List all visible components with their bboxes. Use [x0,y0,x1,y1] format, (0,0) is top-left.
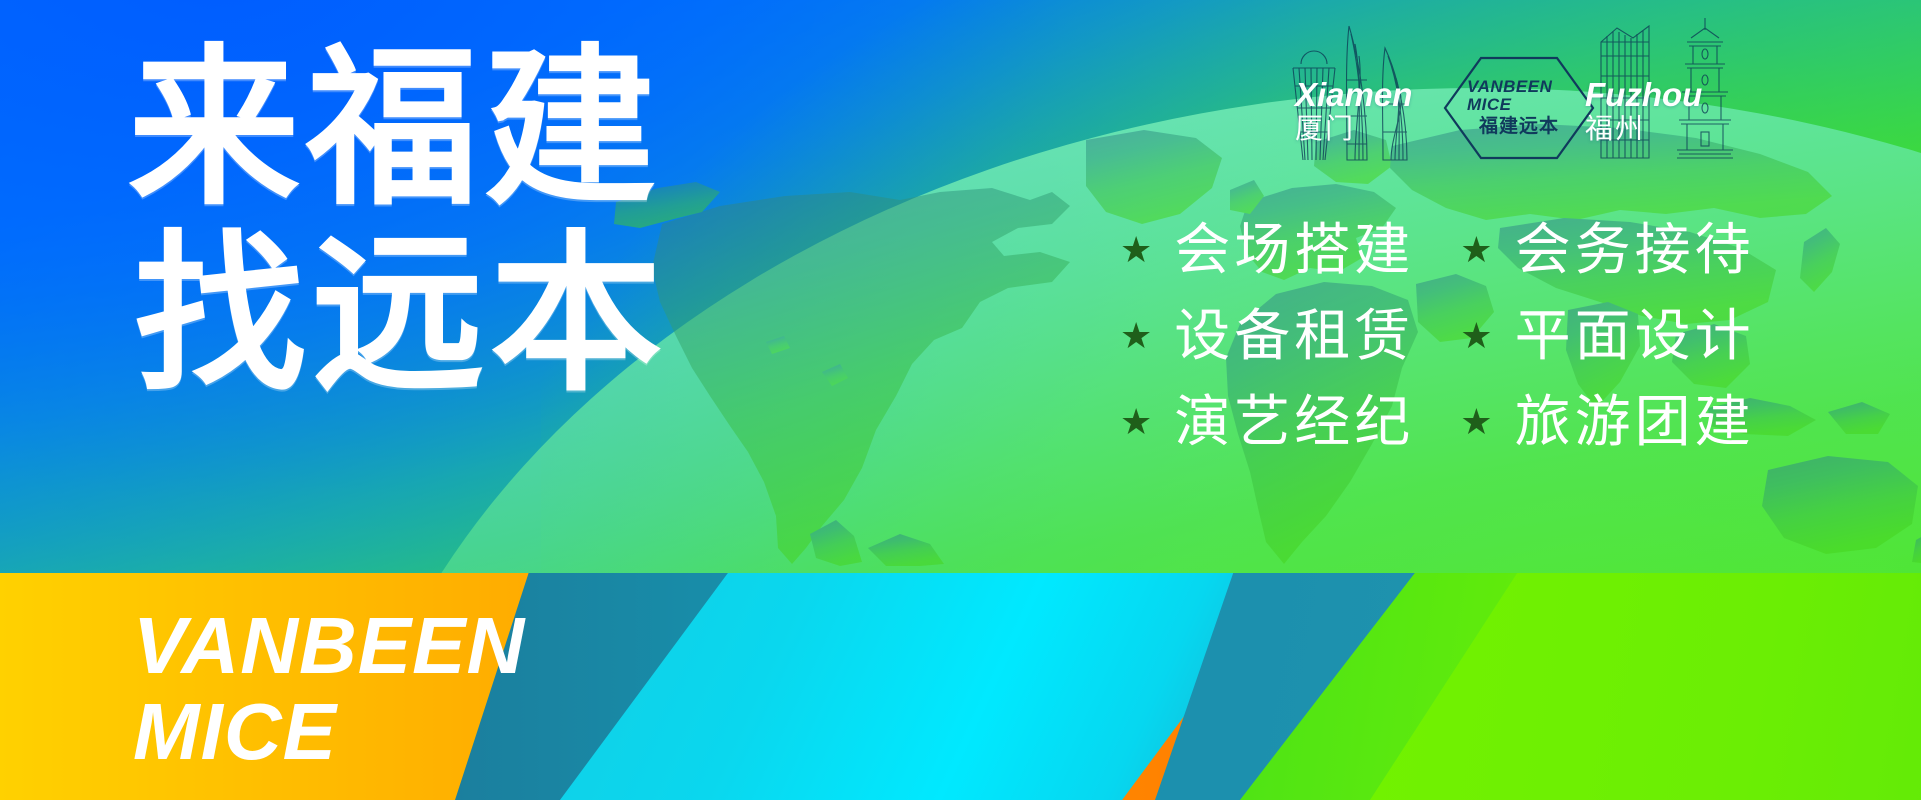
city-xiamen: Xiamen 厦门 [1295,78,1412,143]
service-item[interactable]: ★ 旅游团建 [1460,384,1754,460]
service-item[interactable]: ★ 设备租赁 [1120,298,1414,374]
service-label: 旅游团建 [1515,384,1755,460]
city-fuzhou-cn: 福州 [1585,115,1702,143]
service-item[interactable]: ★ 平面设计 [1460,298,1754,374]
city-lockup: Xiamen 厦门 VANBEEN MICE 福建远本 Fuzhou 福州 [1295,6,1765,171]
service-list: ★ 会场搭建 ★ 会务接待 ★ 设备租赁 ★ 平面设计 ★ 演艺经纪 ★ 旅游团… [1120,212,1755,460]
hex-logo-line-1: VANBEEN [1467,78,1552,96]
service-item[interactable]: ★ 会务接待 [1460,212,1754,288]
headline-line-1: 来福建 [128,36,668,222]
star-icon: ★ [1120,404,1152,440]
city-xiamen-cn: 厦门 [1295,115,1412,143]
footer-band: VANBEEN MICE [0,573,1921,800]
city-fuzhou: Fuzhou 福州 [1585,78,1702,143]
service-label: 设备租赁 [1174,298,1414,374]
star-icon: ★ [1120,318,1152,354]
headline: 来福建 找远本 [128,36,668,408]
star-icon: ★ [1460,232,1492,268]
footer-brand-line-2: MICE [133,689,525,775]
service-label: 会场搭建 [1174,212,1414,288]
service-label: 演艺经纪 [1174,384,1414,460]
hero-panel: 来福建 找远本 ★ 会场搭建 ★ 会务接待 ★ 设备租赁 ★ 平面设计 ★ [0,0,1921,573]
service-item[interactable]: ★ 会场搭建 [1120,212,1414,288]
footer-brand: VANBEEN MICE [133,603,525,775]
promotional-banner: 来福建 找远本 ★ 会场搭建 ★ 会务接待 ★ 设备租赁 ★ 平面设计 ★ [0,0,1921,800]
star-icon: ★ [1120,232,1152,268]
star-icon: ★ [1460,318,1492,354]
star-icon: ★ [1460,404,1492,440]
service-item[interactable]: ★ 演艺经纪 [1120,384,1414,460]
footer-brand-line-1: VANBEEN [133,603,525,689]
service-label: 平面设计 [1515,298,1755,374]
hex-logo-line-3: 福建远本 [1479,116,1559,138]
service-label: 会务接待 [1515,212,1755,288]
headline-line-2: 找远本 [134,222,668,408]
hex-logo-line-2: MICE [1467,96,1512,114]
city-xiamen-en: Xiamen [1295,78,1412,111]
city-fuzhou-en: Fuzhou [1585,78,1702,111]
hexagon-logo[interactable]: VANBEEN MICE 福建远本 [1443,56,1595,160]
